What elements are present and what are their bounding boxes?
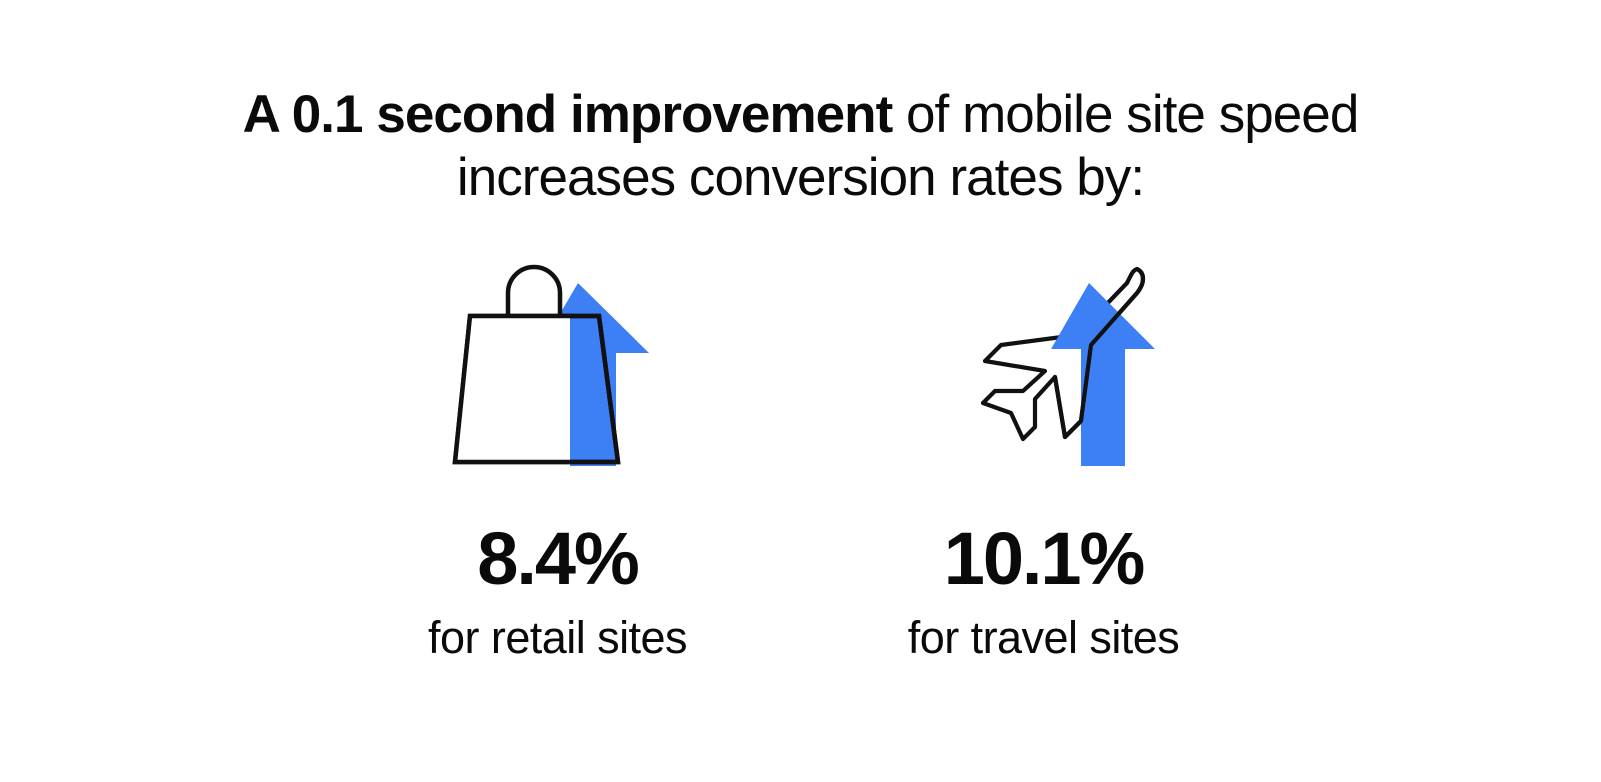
headline-bold-segment: A 0.1 second improvement bbox=[243, 85, 893, 144]
page-title: A 0.1 second improvement of mobile site … bbox=[171, 84, 1431, 209]
shopping-bag-with-up-arrow-icon bbox=[438, 261, 678, 476]
stat-label-retail: for retail sites bbox=[428, 613, 687, 663]
headline-line-two: increases conversion rates by: bbox=[457, 148, 1144, 207]
bag-fill-shape bbox=[456, 318, 570, 460]
stat-value-retail: 8.4% bbox=[477, 522, 637, 596]
bag-handle-shape bbox=[508, 267, 560, 316]
infographic-canvas: A 0.1 second improvement of mobile site … bbox=[0, 0, 1601, 782]
stat-block-retail: 8.4% for retail sites bbox=[388, 261, 728, 663]
stat-block-travel: 10.1% for travel sites bbox=[874, 261, 1214, 663]
stat-label-travel: for travel sites bbox=[908, 613, 1179, 663]
stats-row: 8.4% for retail sites 10.1% for travel s… bbox=[388, 261, 1214, 663]
headline-regular-segment: of mobile site speed bbox=[892, 85, 1358, 144]
stat-value-travel: 10.1% bbox=[944, 522, 1143, 596]
airplane-with-up-arrow-icon bbox=[924, 261, 1164, 476]
